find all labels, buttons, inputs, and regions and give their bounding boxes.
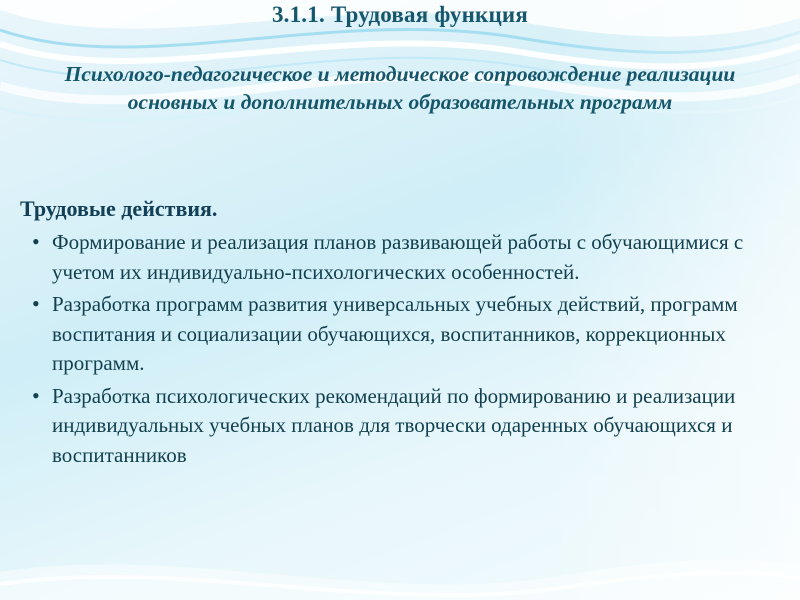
- slide-subtitle: Психолого-педагогическое и методическое …: [60, 60, 740, 116]
- list-item: Разработка психологических рекомендаций …: [18, 382, 784, 471]
- list-item: Разработка программ развития универсальн…: [18, 290, 784, 379]
- body-heading: Трудовые действия.: [18, 196, 784, 222]
- slide-canvas: 3.1.1. Трудовая функция Психолого-педаго…: [0, 0, 800, 600]
- bullet-list: Формирование и реализация планов развива…: [18, 228, 784, 470]
- slide-title: 3.1.1. Трудовая функция: [0, 2, 800, 28]
- list-item: Формирование и реализация планов развива…: [18, 228, 784, 287]
- decorative-bottom-wave: [0, 510, 800, 600]
- slide-body: Трудовые действия. Формирование и реализ…: [18, 196, 784, 473]
